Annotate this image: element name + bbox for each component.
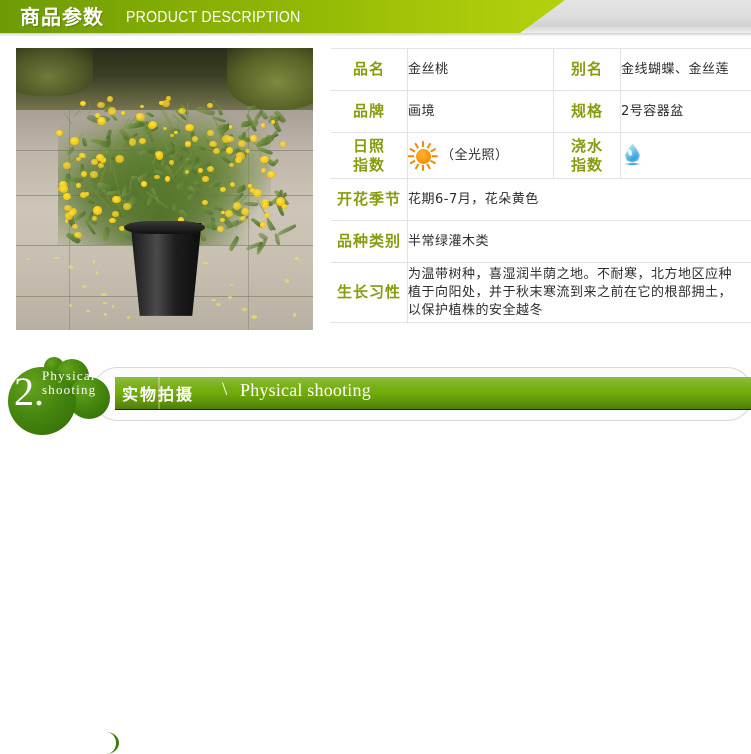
shooting-bar-sheen [115, 377, 751, 389]
spec-value-shengzhang-xixing: 为温带树种，喜湿润半荫之地。不耐寒，北方地区应种植于向阳处，并于秋末寒流到来之前… [408, 263, 751, 323]
photo-yellow-flower [207, 130, 214, 135]
header-underline [0, 33, 751, 36]
photo-pot-rim [124, 221, 204, 234]
photo-yellow-flower [149, 121, 156, 128]
photo-yellow-flower [241, 208, 248, 215]
spec-value-jiaoshui-zhishu [621, 133, 751, 179]
photo-yellow-flower [139, 138, 146, 144]
product-spec-table: 品名 金丝桃 别名 金线蝴蝶、金丝莲 品牌 画境 规格 2号容器盆 日照 指数 [331, 48, 751, 323]
shooting-title-cn: 实物拍摄 [122, 381, 194, 405]
photo-yellow-flower [123, 203, 131, 209]
photo-black-pot [127, 223, 204, 316]
photo-yellow-flower [60, 185, 68, 192]
photo-yellow-flower [185, 170, 189, 174]
photo-fallen-petal [242, 308, 247, 311]
water-drop-icon [621, 142, 645, 170]
photo-fallen-petal [294, 257, 299, 260]
photo-fallen-petal [285, 279, 289, 282]
photo-yellow-flower [260, 156, 269, 163]
photo-yellow-flower [229, 125, 233, 129]
page-title-en: PRODUCT DESCRIPTION [126, 9, 301, 27]
photo-yellow-flower [72, 224, 78, 229]
spec-value-pinpai: 画境 [408, 91, 554, 133]
photo-yellow-flower [250, 135, 256, 141]
photo-yellow-flower [109, 218, 115, 223]
photo-yellow-flower [240, 216, 246, 221]
photo-yellow-flower [198, 168, 203, 172]
spec-label-kaihua-jijie: 开花季节 [331, 179, 408, 221]
photo-yellow-flower [56, 130, 63, 136]
section-number: 2. [14, 372, 44, 412]
photo-yellow-flower [207, 103, 213, 108]
photo-yellow-flower [170, 134, 174, 137]
sun-icon [408, 141, 438, 171]
photo-yellow-flower [260, 222, 267, 227]
sunlight-level-label: （全光照） [441, 147, 509, 165]
photo-yellow-flower [97, 117, 106, 125]
photo-yellow-flower [136, 113, 145, 122]
photo-fallen-petal [216, 303, 220, 306]
photo-yellow-flower [97, 102, 105, 108]
photo-shrub-left [16, 48, 93, 96]
photo-fallen-petal [69, 265, 73, 269]
photo-yellow-flower [81, 171, 87, 177]
shooting-bar [115, 377, 751, 410]
table-row: 品名 金丝桃 别名 金线蝴蝶、金丝莲 [331, 49, 751, 91]
photo-stem [110, 156, 111, 172]
water-drop-base [624, 163, 641, 165]
photo-yellow-flower [262, 202, 269, 208]
photo-yellow-flower [248, 184, 252, 187]
badge-label-line2: shooting [42, 382, 96, 398]
table-row: 开花季节 花期6-7月，花朵黄色 [331, 179, 751, 221]
photo-yellow-flower [85, 192, 89, 195]
spec-label-rizhao-zhishu: 日照 指数 [331, 133, 408, 179]
photo-yellow-flower [225, 210, 233, 217]
photo-yellow-flower [63, 193, 71, 200]
photo-yellow-flower [185, 141, 192, 147]
photo-yellow-flower [90, 171, 98, 177]
photo-yellow-flower [280, 141, 286, 146]
photo-yellow-flower [159, 101, 164, 106]
photo-yellow-flower [253, 189, 262, 197]
spec-value-pinzhong-leibie: 半常绿灌木类 [408, 221, 751, 263]
physical-shooting-section [0, 355, 751, 433]
photo-yellow-flower [74, 232, 81, 238]
photo-yellow-flower [112, 211, 119, 217]
table-row: 品种类别 半常绿灌木类 [331, 221, 751, 263]
photo-yellow-flower [70, 137, 78, 145]
photo-yellow-flower [68, 210, 76, 216]
product-photo [16, 48, 313, 330]
spec-label-pinming: 品名 [331, 49, 408, 91]
spec-label-jiaoshui-zhishu: 浇水 指数 [554, 133, 621, 179]
photo-yellow-flower [202, 176, 208, 181]
table-row: 品牌 画境 规格 2号容器盆 [331, 91, 751, 133]
photo-yellow-flower [93, 206, 102, 214]
photo-fallen-petal [228, 296, 232, 298]
table-row: 生长习性 为温带树种，喜湿润半荫之地。不耐寒，北方地区应种植于向阳处，并于秋末寒… [331, 263, 751, 323]
photo-fallen-petal [293, 313, 296, 317]
photo-fallen-petal [96, 271, 99, 275]
spec-value-bieming: 金线蝴蝶、金丝莲 [621, 49, 751, 91]
spec-label-bieming: 别名 [554, 49, 621, 91]
photo-yellow-flower [141, 181, 147, 186]
photo-yellow-flower [236, 152, 245, 160]
photo-yellow-flower [217, 226, 224, 233]
spec-value-guige: 2号容器盆 [621, 91, 751, 133]
photo-yellow-flower [226, 147, 233, 153]
badge-hook-stroke [98, 732, 119, 754]
photo-fallen-petal [251, 315, 257, 319]
photo-stem [186, 102, 187, 126]
photo-fallen-petal [103, 302, 106, 304]
page-title-cn: 商品参数 [20, 4, 104, 30]
shooting-title-en: Physical shooting [240, 380, 371, 401]
photo-fallen-petal [86, 310, 90, 312]
spec-value-pinming: 金丝桃 [408, 49, 554, 91]
spec-value-kaihua-jijie: 花期6-7月，花朵黄色 [408, 179, 751, 221]
spec-label-guige: 规格 [554, 91, 621, 133]
photo-yellow-flower [178, 108, 186, 114]
table-row: 日照 指数 （全光照） 浇水 指数 [331, 133, 751, 179]
spec-value-rizhao-zhishu: （全光照） [408, 133, 554, 179]
spec-label-pinzhong-leibie: 品种类别 [331, 221, 408, 263]
photo-yellow-flower [220, 218, 225, 222]
photo-fallen-petal [101, 293, 107, 296]
photo-yellow-flower [169, 160, 174, 165]
photo-yellow-flower [91, 159, 97, 165]
shooting-title-separator: \ [222, 379, 227, 401]
spec-label-pinpai: 品牌 [331, 91, 408, 133]
spec-label-shengzhang-xixing: 生长习性 [331, 263, 408, 323]
photo-yellow-flower [154, 175, 160, 179]
page-header-banner [0, 0, 751, 36]
photo-yellow-flower [267, 171, 275, 179]
